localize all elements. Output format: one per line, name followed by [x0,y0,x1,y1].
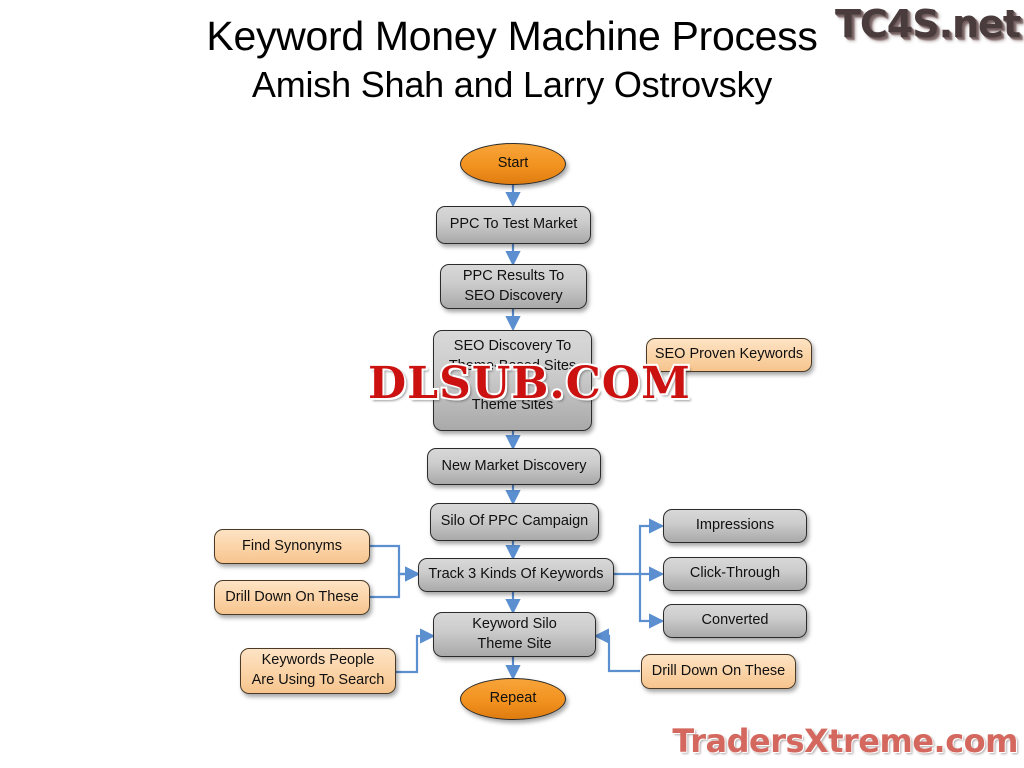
title-secondary: Amish Shah and Larry Ostrovsky [0,67,1024,103]
node-new-market-discovery-label: New Market Discovery [434,457,594,477]
node-drill-down-on-these-left[interactable]: Drill Down On These [214,580,370,615]
node-track-3-kinds-of-keywords[interactable]: Track 3 Kinds Of Keywords [418,558,614,592]
node-keyword-silo-theme-site[interactable]: Keyword Silo Theme Site [433,612,596,657]
node-find-synonyms[interactable]: Find Synonyms [214,529,370,564]
edge-drill-left-to-track3 [370,574,418,597]
node-impressions-label: Impressions [670,516,800,536]
node-ppc-results-to-seo-discovery[interactable]: PPC Results To SEO Discovery [440,264,587,309]
node-start-label: Start [467,154,559,174]
page-title: Keyword Money Machine Process Amish Shah… [0,16,1024,103]
node-keywords-people-are-using-to-search-label: Keywords People Are Using To Search [247,651,389,690]
node-silo-of-ppc-campaign-label: Silo Of PPC Campaign [437,512,592,532]
edge-kw-people-to-keyword-silo [396,636,433,672]
node-seo-proven-keywords-label: SEO Proven Keywords [653,345,805,365]
node-converted-label: Converted [670,611,800,631]
node-drill-down-on-these-right[interactable]: Drill Down On These [641,654,796,689]
node-drill-down-on-these-right-label: Drill Down On These [648,662,789,682]
node-track-3-kinds-of-keywords-label: Track 3 Kinds Of Keywords [425,565,607,585]
node-silo-of-ppc-campaign[interactable]: Silo Of PPC Campaign [430,503,599,541]
node-click-through[interactable]: Click-Through [663,557,807,591]
edge-track3-to-converted [640,574,662,621]
node-ppc-to-test-market[interactable]: PPC To Test Market [436,206,591,244]
node-click-through-label: Click-Through [670,564,800,584]
edge-drill-right-to-keyword-silo [596,636,640,671]
node-drill-down-on-these-left-label: Drill Down On These [221,588,363,608]
slide-canvas: Keyword Money Machine Process Amish Shah… [0,0,1024,768]
edge-track3-to-impressions [640,526,662,574]
watermark-tradersxtreme: TradersXtreme.com [672,722,1018,760]
node-seo-discovery-to-theme-sites[interactable]: SEO Discovery To Theme-Based Sites Theme… [433,330,592,431]
node-keywords-people-are-using-to-search[interactable]: Keywords People Are Using To Search [240,648,396,694]
node-ppc-results-to-seo-discovery-label: PPC Results To SEO Discovery [447,267,580,306]
node-ppc-to-test-market-label: PPC To Test Market [443,215,584,235]
title-primary: Keyword Money Machine Process [0,16,1024,57]
node-repeat[interactable]: Repeat [460,678,566,720]
node-converted[interactable]: Converted [663,604,807,638]
node-keyword-silo-theme-site-label: Keyword Silo Theme Site [440,615,589,654]
node-seo-proven-keywords[interactable]: SEO Proven Keywords [646,338,812,372]
node-new-market-discovery[interactable]: New Market Discovery [427,448,601,485]
node-repeat-label: Repeat [467,689,559,709]
node-find-synonyms-label: Find Synonyms [221,537,363,557]
node-seo-discovery-to-theme-sites-label: SEO Discovery To Theme-Based Sites Theme… [440,337,585,415]
node-start[interactable]: Start [460,143,566,185]
edge-find-syn-to-track3 [370,546,418,574]
node-impressions[interactable]: Impressions [663,509,807,543]
